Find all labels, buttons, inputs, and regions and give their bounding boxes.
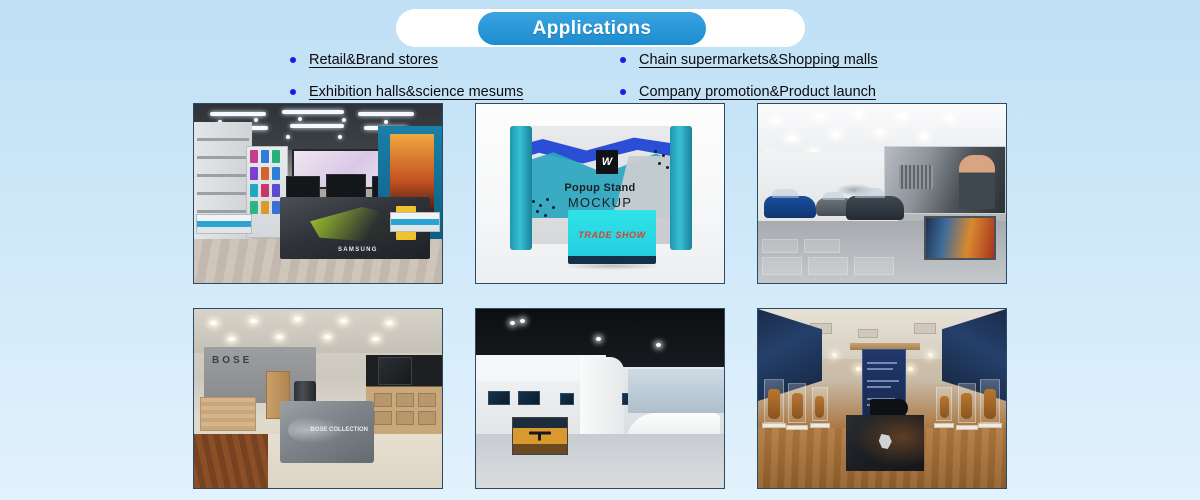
bullet-dot-icon xyxy=(290,57,296,63)
island-label: BOSE COLLECTION xyxy=(310,427,368,434)
stand-logo: W xyxy=(596,150,618,174)
stand-subheadline: MOCKUP xyxy=(476,195,724,210)
list-item-label: Retail&Brand stores xyxy=(309,52,438,68)
gallery-photo-popup-stand-mockup[interactable]: W Popup Stand MOCKUP TRADE SHOW xyxy=(475,103,725,284)
gallery-photo-guitar-museum-gallery[interactable] xyxy=(757,308,1007,489)
list-item-label: Company promotion&Product launch xyxy=(639,84,876,100)
brand-text: SAMSUNG xyxy=(338,247,378,253)
gallery-photo-samsung-retail-store[interactable]: -30 SAMSUNG xyxy=(193,103,443,284)
list-item[interactable]: Company promotion&Product launch xyxy=(620,83,876,101)
list-item[interactable]: Exhibition halls&science mesums xyxy=(290,83,523,101)
list-item-label: Chain supermarkets&Shopping malls xyxy=(639,52,878,68)
list-item[interactable]: Retail&Brand stores xyxy=(290,51,438,69)
gallery-photo-science-museum-exhibition-hall[interactable] xyxy=(475,308,725,489)
applications-bullet-list: Retail&Brand stores Exhibition halls&sci… xyxy=(0,48,1200,100)
bullet-dot-icon xyxy=(620,89,626,95)
stand-headline: Popup Stand xyxy=(476,182,724,194)
brand-logo-text: BOSE xyxy=(212,355,252,366)
application-photo-grid: -30 SAMSUNG W xyxy=(193,103,1007,489)
list-item[interactable]: Chain supermarkets&Shopping malls xyxy=(620,51,878,69)
header-band: Applications xyxy=(0,9,1200,47)
bullet-dot-icon xyxy=(620,57,626,63)
counter-text: TRADE SHOW xyxy=(568,230,656,240)
photo-artwork: W Popup Stand MOCKUP TRADE SHOW xyxy=(476,104,724,283)
page-title: Applications xyxy=(533,18,652,40)
gallery-photo-car-showroom[interactable] xyxy=(757,103,1007,284)
photo-artwork: -30 SAMSUNG xyxy=(194,104,442,283)
photo-artwork: BOSE BOSE COLLECTION xyxy=(194,309,442,488)
list-item-label: Exhibition halls&science mesums xyxy=(309,84,523,100)
photo-artwork xyxy=(758,104,1006,283)
photo-artwork xyxy=(476,309,724,488)
bullet-dot-icon xyxy=(290,89,296,95)
gallery-photo-bose-audio-store[interactable]: BOSE BOSE COLLECTION xyxy=(193,308,443,489)
header-pill-button[interactable]: Applications xyxy=(478,12,706,45)
photo-artwork xyxy=(758,309,1006,488)
